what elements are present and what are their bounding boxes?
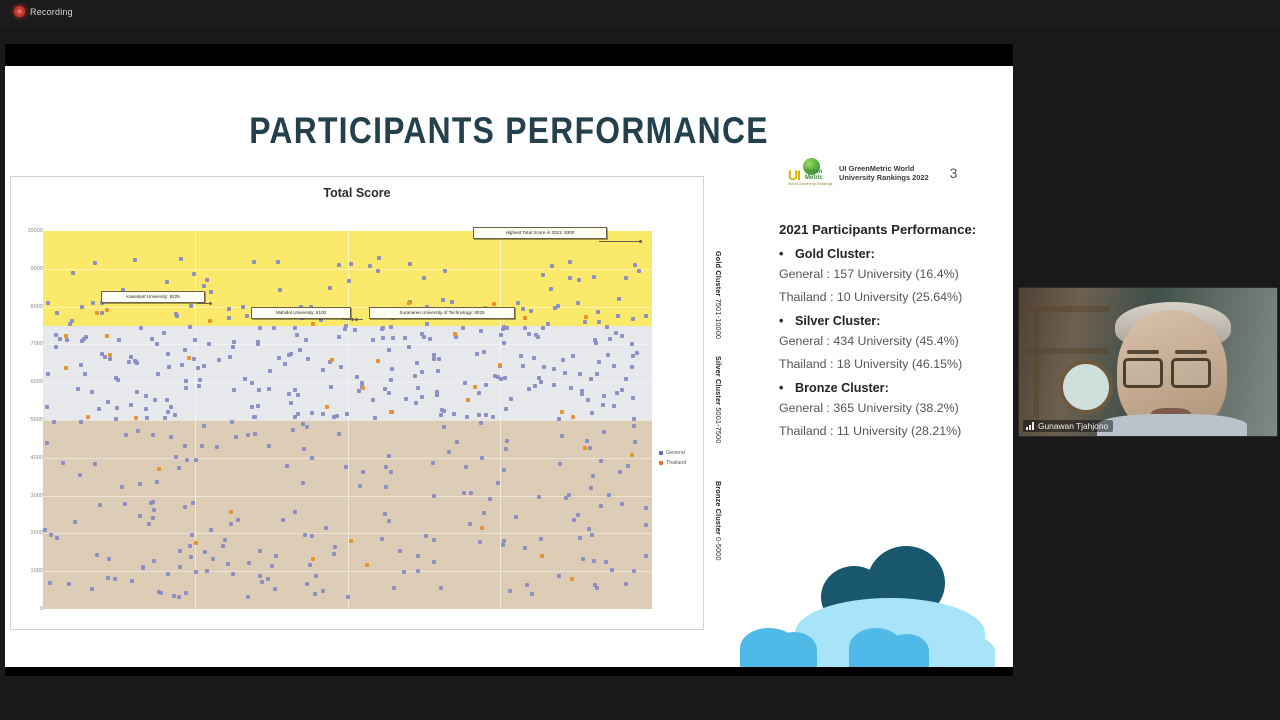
data-point-general [509,397,513,401]
data-point-general [376,269,380,273]
callout-anchor-dot [351,318,354,321]
data-point-general [527,387,531,391]
data-point-general [293,326,297,330]
participant-name: Gunawan Tjahjono [1038,421,1108,431]
data-point-general [588,446,592,450]
data-point-general [135,390,139,394]
data-point-general [78,473,82,477]
data-point-general [525,583,529,587]
data-point-general [424,534,428,538]
scatter-plot: Highest Total Score in 2021: 9300Kasetsa… [43,231,652,609]
data-point-general [361,470,365,474]
data-point-general [576,301,580,305]
data-point-general [177,466,181,470]
data-point-general [230,420,234,424]
data-point-thailand [64,366,68,370]
data-point-general [482,350,486,354]
data-point-general [106,400,110,404]
data-point-thailand [105,334,109,338]
data-point-general [508,589,512,593]
data-point-thailand [498,363,502,367]
data-point-general [504,447,508,451]
participant-name-badge: Gunawan Tjahjono [1023,420,1113,432]
data-point-general [390,367,394,371]
data-point-general [439,586,443,590]
data-point-general [586,398,590,402]
data-point-general [437,357,441,361]
data-point-general [151,500,155,504]
data-point-general [556,304,560,308]
data-point-general [324,526,328,530]
data-point-thailand [64,334,68,338]
data-point-general [371,398,375,402]
data-point-general [305,425,309,429]
data-point-general [353,328,357,332]
data-point-general [260,580,264,584]
shelf-decor [1033,306,1039,418]
legend-swatch-thailand [659,461,663,465]
data-point-general [273,587,277,591]
data-point-general [527,332,531,336]
logo-mark-text: UI [788,167,800,183]
data-point-general [151,433,155,437]
data-point-general [189,304,193,308]
presentation-slide: PARTICIPANTS PERFORMANCE UI GreenMetric … [5,66,1013,667]
data-point-general [178,549,182,553]
data-point-general [480,456,484,460]
gold-general: General : 157 University (16.4%) [779,265,994,284]
data-point-thailand [560,410,564,414]
data-point-general [478,540,482,544]
data-point-general [452,412,456,416]
data-point-general [523,546,527,550]
data-point-general [127,360,131,364]
eyebrow [1175,350,1207,354]
data-point-general [514,515,518,519]
logo-tagline: World University Rankings [788,182,833,186]
data-point-general [252,260,256,264]
plot-area: 0100020003000400050006000700080009000100… [11,207,703,627]
data-point-general [55,536,59,540]
data-point-general [293,388,297,392]
data-point-general [631,317,635,321]
data-point-general [250,381,254,385]
data-point-general [482,511,486,515]
data-point-general [194,570,198,574]
data-point-general [450,300,454,304]
brand-line-1: UI GreenMetric World [839,164,929,174]
data-point-general [84,335,88,339]
bronze-thailand: Thailand : 11 University (28.21%) [779,422,994,441]
cluster-range-silver: 5001-7500 [714,407,723,443]
data-point-general [267,444,271,448]
data-point-general [321,412,325,416]
shirt [1097,414,1247,437]
data-point-general [577,278,581,282]
data-point-general [152,508,156,512]
data-point-general [100,311,104,315]
data-point-general [298,348,302,352]
data-point-general [98,503,102,507]
data-point-general [234,435,238,439]
data-point-general [432,560,436,564]
data-point-general [585,439,589,443]
data-point-general [277,356,281,360]
data-point-general [114,417,118,421]
data-point-general [95,553,99,557]
data-point-general [209,528,213,532]
data-point-general [97,407,101,411]
data-point-general [549,287,553,291]
data-point-general [221,544,225,548]
data-point-general [337,263,341,267]
data-point-general [631,354,635,358]
data-point-general [241,305,245,309]
data-point-general [620,334,624,338]
data-point-general [404,397,408,401]
data-point-general [416,386,420,390]
data-point-general [593,583,597,587]
data-point-general [76,387,80,391]
data-point-general [321,589,325,593]
data-point-general [295,333,299,337]
data-point-general [193,338,197,342]
data-point-general [337,335,341,339]
cluster-label-gold: Gold Cluster 7501-10000 [714,251,723,339]
data-point-general [615,391,619,395]
data-point-general [314,574,318,578]
data-point-general [80,339,84,343]
data-point-general [496,375,500,379]
data-point-general [632,417,636,421]
data-point-general [593,338,597,342]
data-point-general [103,355,107,359]
chart-callout: Mahidol University: 8100 [251,307,351,319]
data-point-thailand [95,311,99,315]
cluster-heading-gold: • Gold Cluster: [779,247,994,261]
data-point-thailand [311,557,315,561]
data-point-general [293,510,297,514]
data-point-general [346,595,350,599]
data-point-general [133,359,137,363]
data-point-general [178,565,182,569]
data-point-general [46,301,50,305]
data-point-general [637,269,641,273]
participant-video-tile[interactable]: Gunawan Tjahjono [1018,287,1278,437]
data-point-general [215,445,219,449]
data-point-general [120,485,124,489]
shared-screen-region[interactable]: PARTICIPANTS PERFORMANCE UI GreenMetric … [5,44,1013,676]
data-point-general [258,549,262,553]
data-point-general [572,518,576,522]
data-point-general [108,357,112,361]
data-point-general [163,416,167,420]
data-point-general [144,394,148,398]
data-point-thailand [86,415,90,419]
cluster-name-gold: Gold Cluster [714,251,723,297]
eyebrow [1127,350,1159,354]
chart-callout: Highest Total Score in 2021: 9300 [473,227,607,239]
zoom-meeting-window: Recording PARTICIPANTS PERFORMANCE UI Gr… [0,0,1280,720]
data-point-general [503,376,507,380]
data-point-thailand [194,541,198,545]
data-point-general [530,592,534,596]
data-point-general [558,462,562,466]
data-point-general [155,342,159,346]
data-point-general [605,325,609,329]
data-point-general [272,326,276,330]
recording-label: Recording [30,7,73,17]
data-point-general [541,273,545,277]
data-point-general [90,390,94,394]
data-point-general [599,504,603,508]
data-point-general [243,377,247,381]
callout-leader-line [599,241,639,242]
data-point-general [344,465,348,469]
data-point-general [180,363,184,367]
data-point-general [407,345,411,349]
meeting-top-bar: Recording [0,0,1280,27]
data-point-general [172,594,176,598]
cluster-heading-silver-label: Silver Cluster: [795,314,880,328]
data-point-general [590,533,594,537]
data-point-general [79,363,83,367]
data-point-thailand [407,301,411,305]
data-point-general [145,416,149,420]
data-point-general [380,327,384,331]
silver-general: General : 434 University (45.4%) [779,332,994,351]
data-point-general [80,305,84,309]
data-point-general [247,561,251,565]
data-point-general [521,307,525,311]
summary-panel: 2021 Participants Performance: • Gold Cl… [779,221,994,444]
data-point-general [231,572,235,576]
data-point-general [578,536,582,540]
data-point-general [502,325,506,329]
grid-line-horizontal [43,458,652,459]
data-point-general [387,519,391,523]
data-point-general [246,433,250,437]
data-point-general [258,326,262,330]
data-point-general [138,482,142,486]
data-point-general [202,424,206,428]
data-point-thailand [389,410,393,414]
legend-label-thailand: Thailand [666,460,686,466]
data-point-general [542,365,546,369]
data-point-general [464,465,468,469]
data-point-general [539,380,543,384]
data-point-general [462,491,466,495]
data-point-general [455,440,459,444]
data-point-general [398,549,402,553]
data-point-general [428,337,432,341]
eyeglasses-icon [1123,358,1163,388]
data-point-general [291,428,295,432]
data-point-general [617,297,621,301]
y-axis-tick: 4000 [31,455,43,461]
data-point-general [310,534,314,538]
data-point-general [618,470,622,474]
data-point-general [560,434,564,438]
brand-header: UI GreenMetric World University Rankings… [786,158,957,188]
bush-icon [885,634,929,667]
bullet-icon: • [779,314,795,328]
data-point-general [432,538,436,542]
data-point-general [563,371,567,375]
data-point-general [73,520,77,524]
data-point-thailand [466,398,470,402]
data-point-general [227,307,231,311]
data-point-general [383,387,387,391]
data-point-general [415,361,419,365]
cluster-heading-silver: • Silver Cluster: [779,314,994,328]
data-point-general [597,360,601,364]
data-point-general [516,301,520,305]
data-point-general [151,516,155,520]
data-point-general [608,337,612,341]
data-point-general [236,518,240,522]
data-point-general [188,325,192,329]
data-point-general [332,552,336,556]
data-point-general [293,415,297,419]
data-point-general [384,485,388,489]
data-point-general [321,368,325,372]
data-point-general [442,409,446,413]
data-point-general [83,372,87,376]
data-point-general [190,533,194,537]
data-point-general [308,563,312,567]
data-point-thailand [365,563,369,567]
grid-line-horizontal [43,344,652,345]
legend-swatch-general [659,451,663,455]
data-point-general [183,505,187,509]
data-point-general [45,441,49,445]
gold-thailand: Thailand : 10 University (25.64%) [779,288,994,307]
data-point-general [345,412,349,416]
cluster-heading-gold-label: Gold Cluster: [795,247,875,261]
data-point-general [465,415,469,419]
data-point-general [377,256,381,260]
data-point-thailand [157,467,161,471]
data-point-general [289,401,293,405]
data-point-general [289,352,293,356]
data-point-general [441,298,445,302]
cluster-name-bronze: Bronze Cluster [714,481,723,535]
data-point-general [442,425,446,429]
data-point-general [133,258,137,262]
data-point-general [523,326,527,330]
y-axis-tick: 5000 [31,417,43,423]
data-point-general [205,569,209,573]
data-point-general [576,513,580,517]
data-point-general [614,331,618,335]
data-point-general [231,345,235,349]
bronze-general: General : 365 University (38.2%) [779,399,994,418]
data-point-general [268,369,272,373]
data-point-thailand [473,385,477,389]
data-point-general [463,381,467,385]
data-point-general [79,420,83,424]
y-axis-tick: 1000 [31,568,43,574]
data-point-general [477,391,481,395]
data-point-general [196,366,200,370]
data-point-general [484,383,488,387]
data-point-general [91,301,95,305]
ui-greenmetric-logo-icon: UI GreenMetric World University Rankings [786,158,832,188]
data-point-general [141,565,145,569]
chart-legend: General Thailand [659,450,686,470]
data-point-general [203,550,207,554]
data-point-general [227,316,231,320]
data-point-thailand [583,446,587,450]
data-point-general [387,391,391,395]
decorative-illustration [645,536,1013,667]
data-point-general [439,413,443,417]
grid-line-horizontal [43,496,652,497]
eyeglasses-icon [1171,358,1211,388]
data-point-general [557,574,561,578]
data-point-general [461,326,465,330]
data-point-general [202,284,206,288]
grid-line-horizontal [43,382,652,383]
data-point-general [258,574,262,578]
grid-line-horizontal [43,269,652,270]
callout-anchor-dot [209,302,212,305]
y-axis: 0100020003000400050006000700080009000100… [13,207,43,614]
data-point-general [70,319,74,323]
data-point-thailand [361,386,365,390]
bullet-icon: • [779,247,795,261]
data-point-general [569,386,573,390]
data-point-general [55,311,59,315]
data-point-thailand [349,539,353,543]
data-point-general [583,320,587,324]
data-point-general [624,276,628,280]
data-point-general [207,342,211,346]
data-point-general [604,560,608,564]
data-point-thailand [208,319,212,323]
data-point-thailand [187,356,191,360]
data-point-general [644,314,648,318]
data-point-general [115,406,119,410]
data-point-general [479,421,483,425]
data-point-thailand [376,359,380,363]
data-point-thailand [330,358,334,362]
data-point-general [425,322,429,326]
recording-indicator[interactable]: Recording [14,6,73,17]
data-point-general [416,569,420,573]
data-point-general [46,372,50,376]
data-point-general [183,444,187,448]
data-point-general [253,432,257,436]
data-point-general [217,358,221,362]
data-point-general [596,310,600,314]
data-point-general [188,544,192,548]
data-point-general [505,439,509,443]
data-point-general [592,275,596,279]
data-point-general [597,320,601,324]
data-point-general [422,276,426,280]
data-point-thailand [480,526,484,530]
data-point-general [422,335,426,339]
data-point-general [150,337,154,341]
data-point-general [532,356,536,360]
data-point-general [61,461,65,465]
y-axis-tick: 2000 [31,530,43,536]
data-point-general [256,404,260,408]
data-point-general [106,576,110,580]
data-point-general [139,326,143,330]
